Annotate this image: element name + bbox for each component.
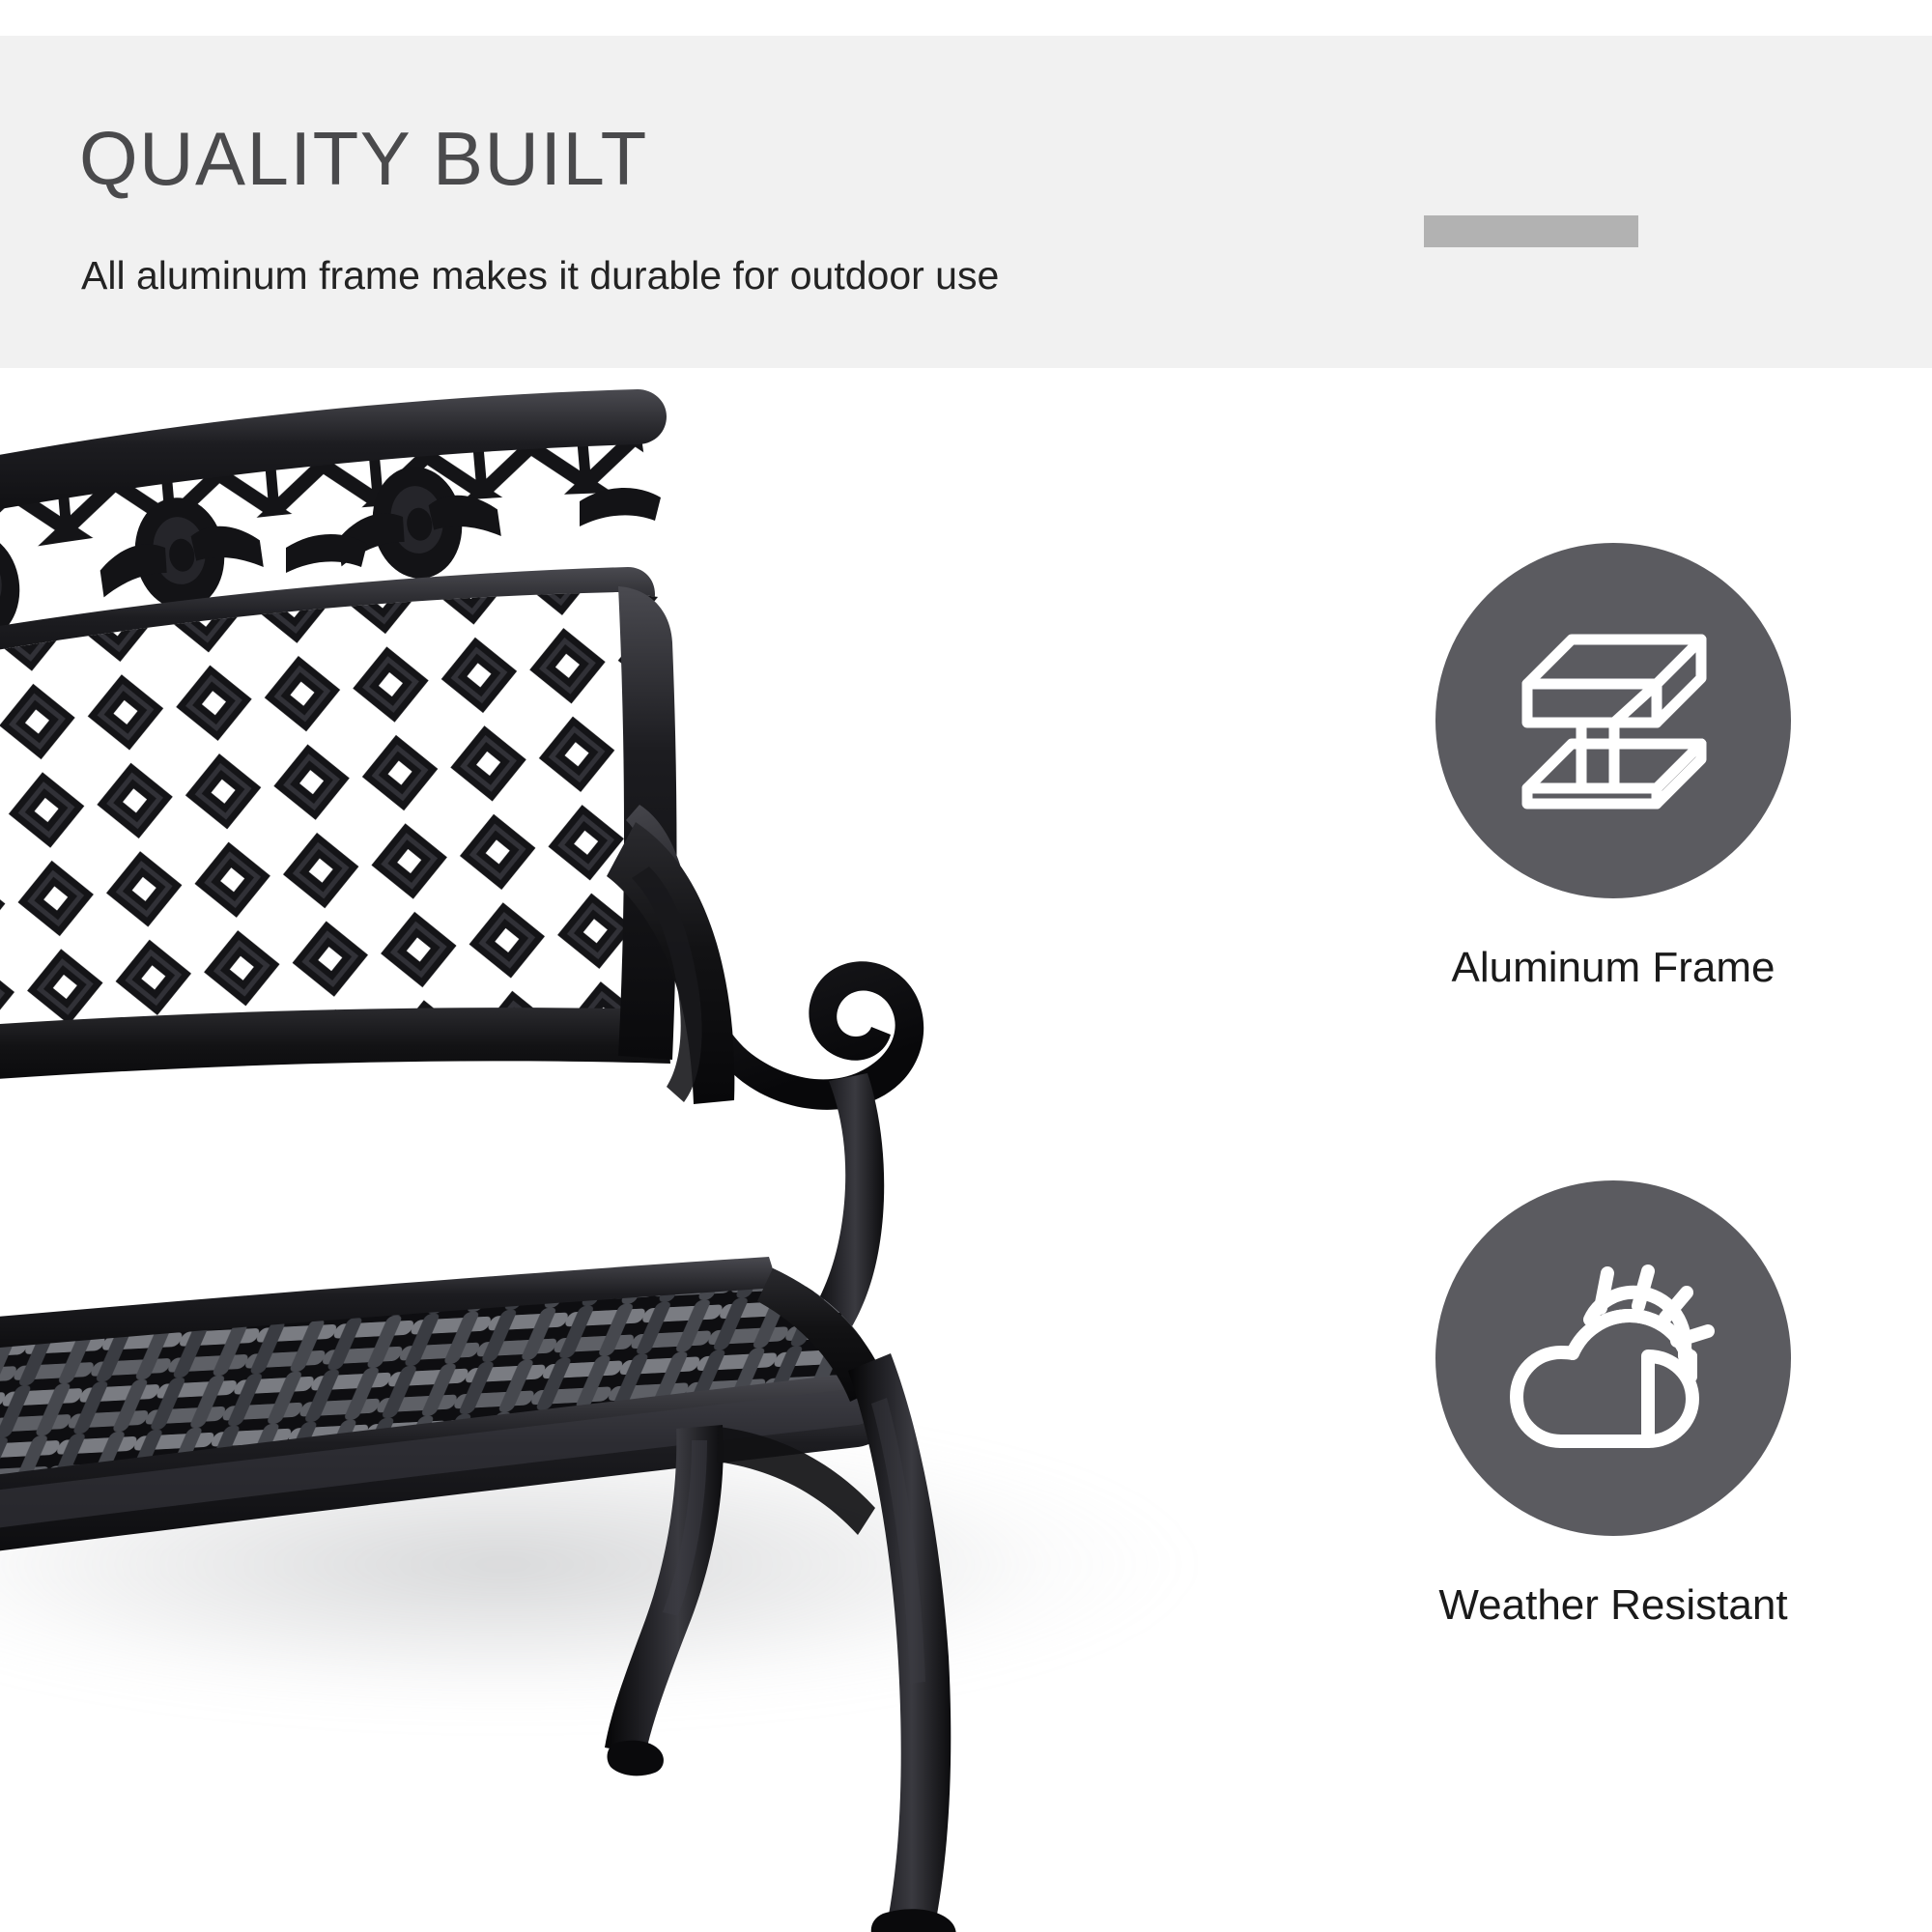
feature-list: Aluminum Frame Weather Re: [1294, 368, 1932, 1932]
feature-weather-resistant: Weather Resistant: [1294, 1180, 1932, 1627]
i-beam-icon: [1512, 624, 1715, 817]
page-title: QUALITY BUILT: [79, 121, 648, 196]
leg-foot-front-right: [871, 1909, 956, 1932]
leg-foot-rear-left: [608, 1741, 664, 1776]
accent-bar: [1424, 215, 1638, 247]
backrest-bottom-rail: [0, 1008, 670, 1094]
page-subtitle: All aluminum frame makes it durable for …: [81, 256, 999, 296]
feature-label: Aluminum Frame: [1294, 947, 1932, 989]
feature-aluminum-frame: Aluminum Frame: [1294, 543, 1932, 989]
bench-vector: [0, 368, 1294, 1932]
product-photo: [0, 368, 1294, 1932]
garden-bench-illustration: [0, 368, 1294, 1932]
feature-label: Weather Resistant: [1294, 1584, 1932, 1627]
feature-icon-badge: [1435, 1180, 1791, 1536]
feature-icon-badge: [1435, 543, 1791, 898]
sun-behind-cloud-icon: [1501, 1260, 1725, 1457]
bench-armrest: [607, 805, 923, 1336]
bench-seat: [0, 1237, 947, 1576]
header-band: QUALITY BUILT All aluminum frame makes i…: [0, 36, 1932, 368]
promo-image-canvas: QUALITY BUILT All aluminum frame makes i…: [0, 0, 1932, 1932]
